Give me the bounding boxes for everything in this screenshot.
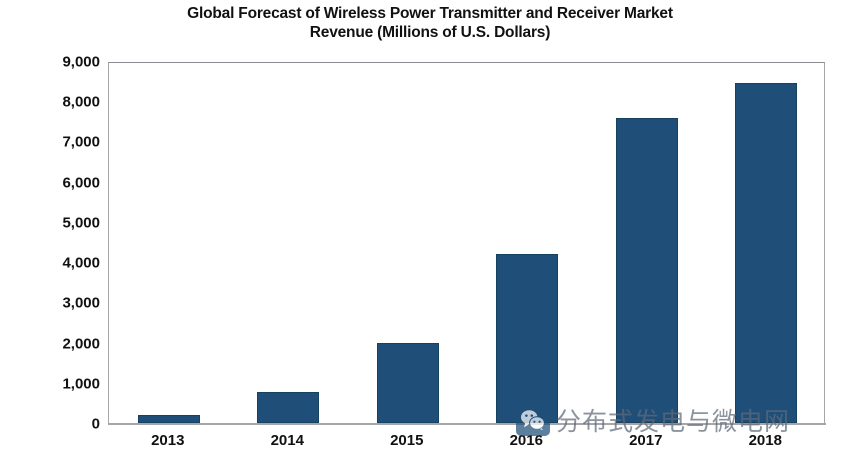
chart-title: Global Forecast of Wireless Power Transm… [120,4,740,42]
bar-2014 [257,392,319,423]
x-axis-tick-label: 2013 [151,432,184,449]
y-axis-tick-label: 3,000 [20,295,100,312]
y-axis-tick-label: 4,000 [20,255,100,272]
x-axis-tick-label: 2018 [749,432,782,449]
bar-2018 [735,83,797,423]
y-axis-tick-label: 0 [20,416,100,433]
bars-layer [109,63,824,423]
x-axis-labels: 201320142015201620172018 [108,432,825,458]
y-axis-tick-label: 6,000 [20,174,100,191]
x-axis-tick-label: 2017 [629,432,662,449]
bar-2016 [496,254,558,423]
y-axis-tick-label: 9,000 [20,54,100,71]
y-axis-tick-label: 8,000 [20,94,100,111]
x-axis-tick-label: 2014 [271,432,304,449]
x-axis-line [108,423,826,425]
chart-title-line-1: Global Forecast of Wireless Power Transm… [187,5,673,22]
bar-2015 [377,343,439,423]
y-axis-tick-label: 5,000 [20,214,100,231]
chart-container: Global Forecast of Wireless Power Transm… [0,0,850,465]
x-axis-tick-label: 2015 [390,432,423,449]
chart-title-line-2: Revenue (Millions of U.S. Dollars) [120,23,740,42]
y-axis-tick-label: 1,000 [20,375,100,392]
y-axis-tick-label: 2,000 [20,335,100,352]
y-axis-tick-label: 7,000 [20,134,100,151]
x-axis-tick-label: 2016 [510,432,543,449]
bar-2013 [138,415,200,423]
y-axis-labels: 01,0002,0003,0004,0005,0006,0007,0008,00… [20,62,100,424]
bar-2017 [616,118,678,423]
